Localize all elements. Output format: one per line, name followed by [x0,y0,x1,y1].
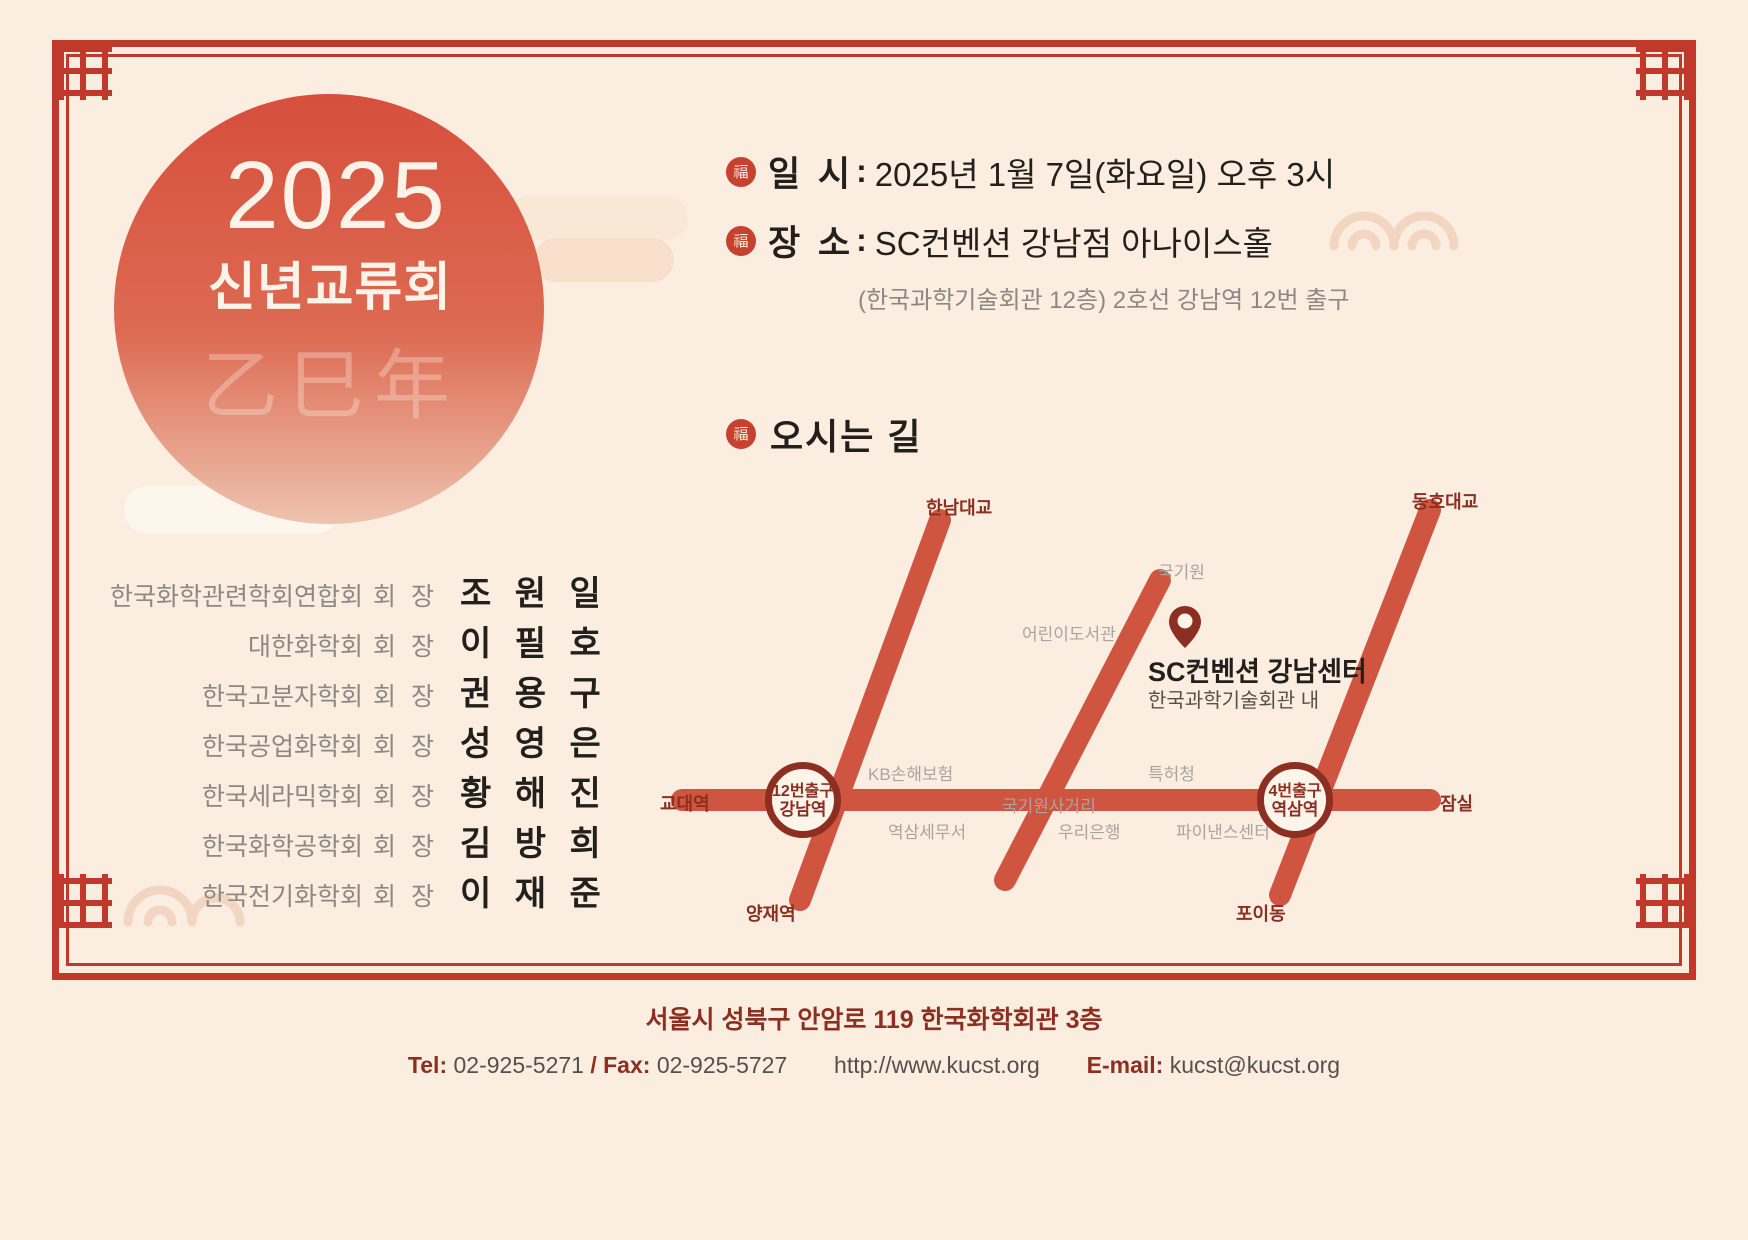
station-name-label: 강남역 [772,801,834,820]
officer-name: 김 방 희 [460,816,580,865]
map-label-finance-center: 파이낸스센터 [1176,818,1270,843]
directions-title: 오시는 길 [770,408,922,460]
map-endpoint-dongho: 동호대교 [1412,488,1478,514]
officer-role: 회 장 [373,577,438,613]
separator-slash: / [590,1052,596,1078]
officer-row: 한국공업화학회 회 장 성 영 은 [120,716,580,766]
event-date-colon: : [856,153,867,190]
event-date-label: 일 시 [768,146,854,197]
venue-subtext: 한국과학기술회관 내 [1148,684,1319,713]
fax-label: Fax: [603,1052,650,1078]
officer-row: 한국세라믹학회 회 장 황 해 진 [120,766,580,816]
map-label-gukgiwon-crossing: 국기원사거리 [1002,792,1096,817]
officer-role: 회 장 [373,677,438,713]
event-place-value: SC컨벤션 강남점 아나이스홀 [875,217,1273,265]
corner-ornament-bottom-left [58,874,112,928]
officer-name: 조 원 일 [460,566,580,615]
officer-row: 한국전기화학회 회 장 이 재 준 [120,866,580,916]
officer-org: 한국고분자학회 [202,677,363,713]
map-endpoint-hannam: 한남대교 [926,494,992,520]
tel-value: 02-925-5271 [454,1052,584,1078]
station-gangnam[interactable]: 12번출구 강남역 [765,762,841,838]
officer-org: 한국공업화학회 [202,727,363,763]
officers-list: 한국화학관련학회연합회 회 장 조 원 일 대한화학회 회 장 이 필 호 한국… [120,566,580,916]
station-name-label: 역삼역 [1264,801,1326,820]
footer-address: 서울시 성북구 안암로 119 한국화학회관 3층 [0,1000,1748,1036]
corner-ornament-top-right [1636,46,1690,100]
map-roads [640,470,1640,940]
map-pin-icon [1168,604,1202,650]
map-endpoint-yangjae: 양재역 [746,900,796,926]
email-value[interactable]: kucst@kucst.org [1170,1052,1340,1078]
officer-role: 회 장 [373,777,438,813]
map-endpoint-jamsil: 잠실 [1440,790,1473,816]
officer-role: 회 장 [373,827,438,863]
email-label: E-mail: [1087,1052,1164,1078]
station-exit-label: 4번출구 [1264,783,1326,801]
officer-role: 회 장 [373,627,438,663]
event-date-row: 福 일 시 : 2025년 1월 7일(화요일) 오후 3시 [726,146,1626,197]
officer-name: 권 용 구 [460,666,580,715]
fax-value: 02-925-5727 [657,1052,787,1078]
officer-name: 성 영 은 [460,716,580,765]
corner-ornament-top-left [58,46,112,100]
event-place-row: 福 장 소 : SC컨벤션 강남점 아나이스홀 [726,215,1626,266]
location-map: 한남대교 동호대교 양재역 포이동 교대역 잠실 국기원 어린이도서관 KB손해… [640,470,1640,940]
event-date-value: 2025년 1월 7일(화요일) 오후 3시 [875,148,1335,196]
cloud-decoration [534,238,674,282]
officer-org: 한국화학관련학회연합회 [110,577,363,613]
website-link[interactable]: http://www.kucst.org [834,1052,1040,1078]
map-label-gukgiwon: 국기원 [1158,558,1205,583]
officer-row: 대한화학회 회 장 이 필 호 [120,616,580,666]
officer-row: 한국고분자학회 회 장 권 용 구 [120,666,580,716]
officer-role: 회 장 [373,877,438,913]
fu-icon: 福 [726,419,756,449]
poster-year: 2025 [196,148,476,244]
road-gangnamdaero [800,520,940,900]
event-place-colon: : [856,222,867,259]
officer-org: 한국화학공학회 [202,827,363,863]
map-endpoint-gyodae: 교대역 [660,790,710,816]
station-exit-label: 12번출구 [772,783,834,801]
officer-org: 대한화학회 [248,627,363,663]
station-yeoksam[interactable]: 4번출구 역삼역 [1257,762,1333,838]
footer-contact-line: Tel: 02-925-5271 / Fax: 02-925-5727 http… [0,1052,1748,1079]
officer-role: 회 장 [373,727,438,763]
poster-title: 신년교류회 [180,262,480,314]
officer-name: 이 재 준 [460,866,580,915]
officer-name: 이 필 호 [460,616,580,665]
directions-heading: 福 오시는 길 [726,408,922,460]
poster-canvas: 乙巳年 2025 신년교류회 福 일 시 : 2025년 1월 7일(화요일) … [0,0,1748,1240]
map-label-kb-insurance: KB손해보험 [868,760,953,785]
fu-icon: 福 [726,157,756,187]
officer-name: 황 해 진 [460,766,580,815]
officer-org: 한국세라믹학회 [202,777,363,813]
officer-row: 한국화학공학회 회 장 김 방 희 [120,816,580,866]
map-label-yeoksam-tax: 역삼세무서 [888,818,966,843]
officer-row: 한국화학관련학회연합회 회 장 조 원 일 [120,566,580,616]
event-info-block: 福 일 시 : 2025년 1월 7일(화요일) 오후 3시 福 장 소 : S… [726,146,1626,315]
footer: 서울시 성북구 안암로 119 한국화학회관 3층 Tel: 02-925-52… [0,1000,1748,1079]
zodiac-hanja: 乙巳年 [186,348,476,424]
map-label-children-library: 어린이도서관 [1022,620,1116,645]
officer-org: 한국전기화학회 [202,877,363,913]
map-endpoint-poidong: 포이동 [1236,900,1286,926]
tel-label: Tel: [408,1052,447,1078]
map-label-woori-bank: 우리은행 [1058,818,1121,843]
map-label-patent-office: 특허청 [1148,760,1195,785]
cloud-decoration [508,196,688,240]
event-place-label: 장 소 [768,215,854,266]
fu-icon: 福 [726,226,756,256]
event-place-subtext: (한국과학기술회관 12층) 2호선 강남역 12번 출구 [858,280,1626,315]
corner-ornament-bottom-right [1636,874,1690,928]
